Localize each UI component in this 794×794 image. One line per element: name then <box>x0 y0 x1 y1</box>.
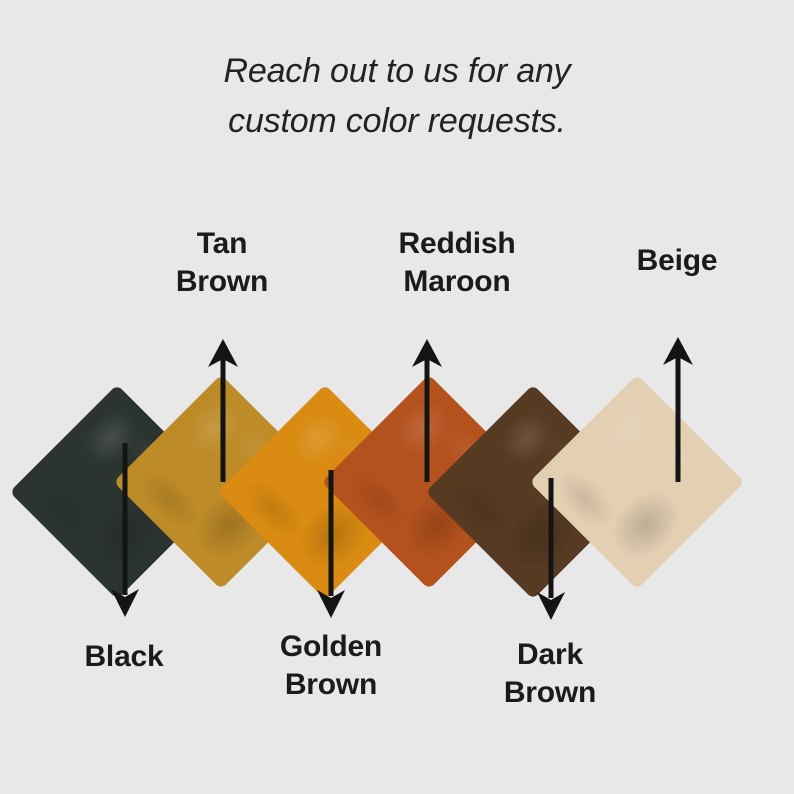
label-dark-brown: Dark Brown <box>462 636 638 712</box>
label-beige: Beige <box>596 242 758 280</box>
label-reddish-maroon: Reddish Maroon <box>352 225 562 301</box>
label-golden-brown: Golden Brown <box>238 628 424 704</box>
label-black: Black <box>43 638 205 676</box>
color-swatch-graphic: Reach out to us for any custom color req… <box>0 0 794 794</box>
label-tan-brown: Tan Brown <box>141 225 303 301</box>
